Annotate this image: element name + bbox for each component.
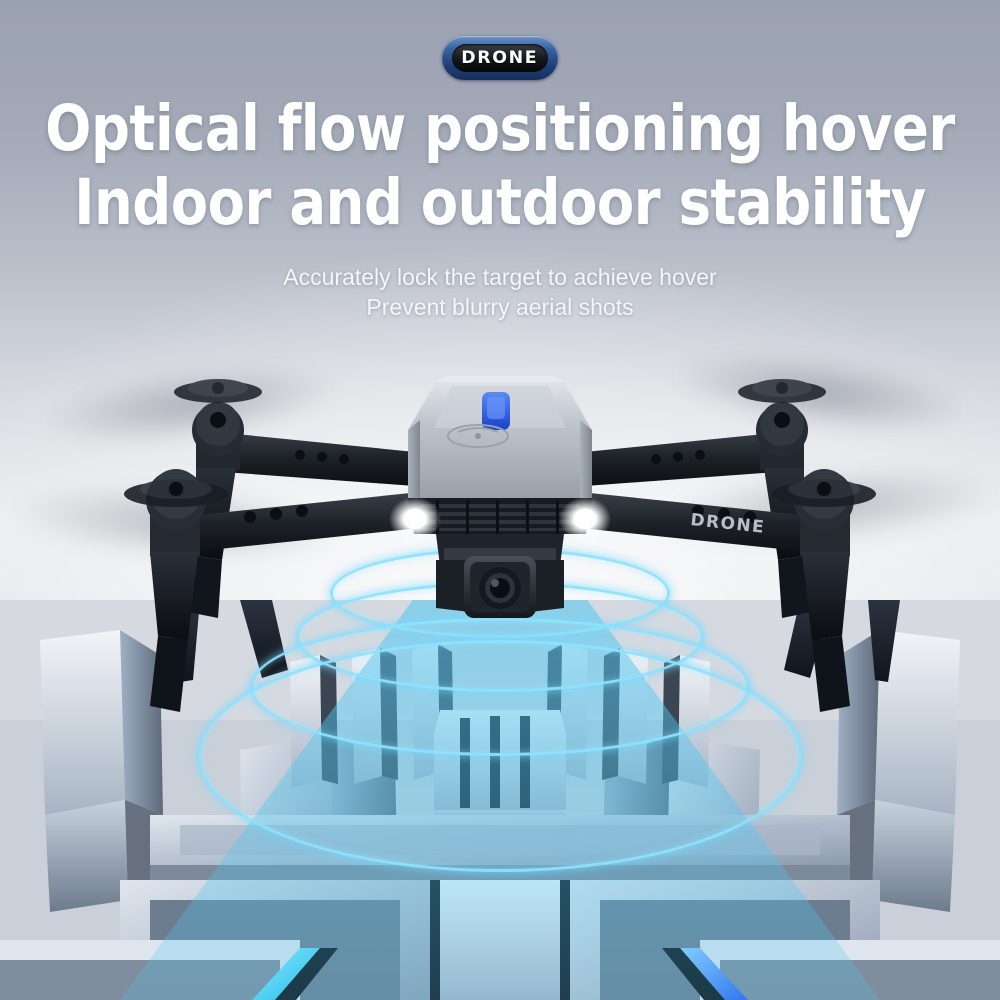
headlight-right bbox=[559, 497, 611, 541]
page-title: Optical flow positioning hover Indoor an… bbox=[20, 92, 980, 240]
propeller-blur-rear-left bbox=[8, 476, 342, 571]
headlight-left bbox=[389, 497, 441, 541]
propeller-blur-front-left bbox=[37, 352, 343, 458]
subhead-line-1: Accurately lock the target to achieve ho… bbox=[0, 262, 1000, 292]
product-banner: DRONE bbox=[0, 0, 1000, 1000]
headline-line-2: Indoor and outdoor stability bbox=[20, 166, 980, 240]
drone-logo-badge: DRONE bbox=[442, 36, 558, 80]
city-scene bbox=[0, 600, 1000, 1000]
page-subtitle: Accurately lock the target to achieve ho… bbox=[0, 262, 1000, 322]
led-indicator bbox=[482, 392, 510, 430]
propeller-blur-rear-right bbox=[657, 455, 1000, 558]
headline-line-1: Optical flow positioning hover bbox=[45, 92, 955, 165]
logo-label: DRONE bbox=[461, 48, 538, 68]
propeller-blur-front-right bbox=[667, 340, 973, 446]
drone-fuselage bbox=[389, 376, 611, 541]
subhead-line-2: Prevent blurry aerial shots bbox=[0, 292, 1000, 322]
logo-inner-pill: DRONE bbox=[452, 44, 548, 72]
